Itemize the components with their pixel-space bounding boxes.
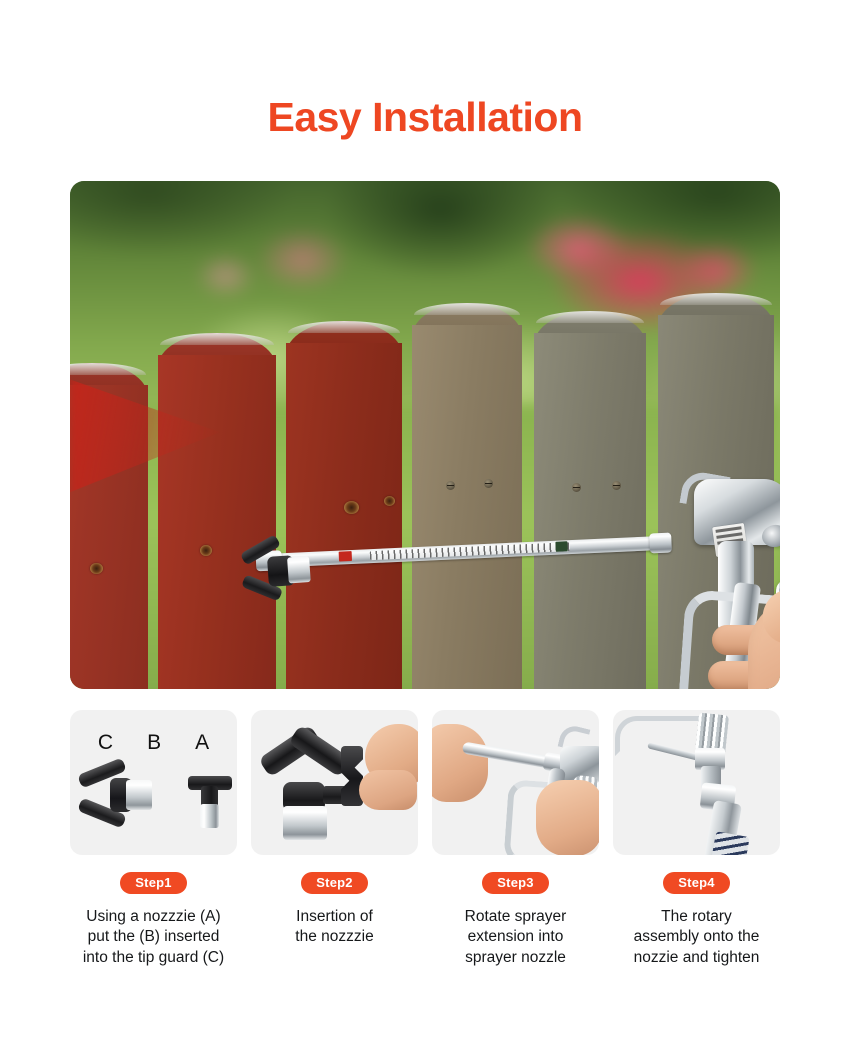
step-item: Step2 Insertion of the nozzzie [251, 710, 418, 968]
step2-badge-wrap: Step2 [251, 872, 418, 894]
step1-thumbnail: C B A [70, 710, 237, 855]
label-b: B [147, 731, 161, 755]
step-item: C B A Step1 Using a nozzzie (A) put the … [70, 710, 237, 968]
label-c: C [98, 731, 113, 755]
hose-spring-guard [710, 831, 749, 855]
washer-part-b [158, 786, 178, 806]
step-badge: Step1 [120, 872, 186, 894]
step-item: Step4 The rotary assembly onto the nozzi… [613, 710, 780, 968]
tip-guard-part-c [78, 762, 144, 828]
wand-marker-dark [555, 541, 567, 552]
step-caption: Using a nozzzie (A) put the (B) inserted… [70, 907, 237, 968]
page-title: Easy Installation [0, 0, 850, 138]
step1-badge-wrap: Step1 [70, 872, 237, 894]
spray-tip-part-a [188, 770, 232, 832]
fence-picket-red [158, 333, 276, 689]
step3-thumbnail [432, 710, 599, 855]
hand [712, 585, 780, 689]
fence-picket-wood [412, 303, 522, 689]
step2-thumbnail [251, 710, 418, 855]
step-caption: Insertion of the nozzzie [251, 907, 418, 948]
hand [359, 724, 418, 834]
step-caption: Rotate sprayer extension into sprayer no… [432, 907, 599, 968]
wand-marker-red [339, 551, 352, 562]
hand-right [536, 780, 599, 855]
step4-badge-wrap: Step4 [613, 872, 780, 894]
fence-picket-wood [534, 311, 646, 689]
step-badge: Step4 [663, 872, 729, 894]
label-a: A [195, 731, 209, 755]
installation-steps: C B A Step1 Using a nozzzie (A) put the … [70, 710, 780, 968]
step-badge: Step3 [482, 872, 548, 894]
fence-picket-red [286, 321, 402, 689]
step-item: Step3 Rotate sprayer extension into spra… [432, 710, 599, 968]
step-caption: The rotary assembly onto the nozzie and … [613, 907, 780, 968]
step3-badge-wrap: Step3 [432, 872, 599, 894]
tip-guard [236, 539, 298, 605]
hand-left [432, 724, 488, 802]
part-letter-labels: C B A [70, 731, 237, 755]
tip-guard [263, 738, 349, 838]
hero-product-photo [70, 181, 780, 689]
step-badge: Step2 [301, 872, 367, 894]
step4-thumbnail [613, 710, 780, 855]
